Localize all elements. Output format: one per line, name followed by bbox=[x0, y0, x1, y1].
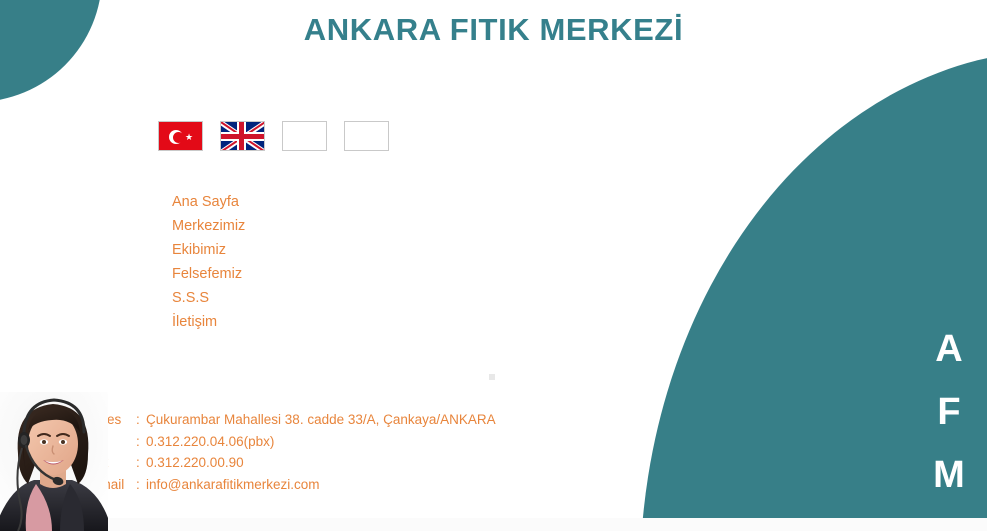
page-title: ANKARA FITIK MERKEZİ bbox=[0, 12, 987, 48]
nav-item-ana-sayfa[interactable]: Ana Sayfa bbox=[172, 190, 245, 214]
nav-item-ekibimiz[interactable]: Ekibimiz bbox=[172, 238, 245, 262]
contact-row-fax: Fax : 0.312.220.00.90 bbox=[86, 452, 496, 474]
contact-colon-address: : bbox=[136, 409, 146, 431]
nav-item-sss[interactable]: S.S.S bbox=[172, 286, 245, 310]
contact-value-email[interactable]: info@ankarafitikmerkezi.com bbox=[146, 474, 320, 496]
page-artifact-mark bbox=[489, 374, 495, 380]
english-flag-icon[interactable] bbox=[220, 121, 265, 151]
afm-letter-m: M bbox=[925, 444, 973, 507]
language-flag-bar: ★ bbox=[158, 121, 389, 151]
nav-item-felsefemiz[interactable]: Felsefemiz bbox=[172, 262, 245, 286]
contact-value-fax: 0.312.220.00.90 bbox=[146, 452, 244, 474]
nav-item-merkezimiz[interactable]: Merkezimiz bbox=[172, 214, 245, 238]
main-navigation: Ana Sayfa Merkezimiz Ekibimiz Felsefemiz… bbox=[172, 190, 245, 334]
call-center-operator-photo bbox=[0, 392, 108, 531]
german-flag-icon[interactable] bbox=[282, 121, 327, 151]
contact-row-email: E-mail : info@ankarafitikmerkezi.com bbox=[86, 474, 496, 496]
crescent-cut-shape bbox=[173, 132, 184, 143]
contact-row-phone: Tel : 0.312.220.04.06(pbx) bbox=[86, 431, 496, 453]
nav-item-iletisim[interactable]: İletişim bbox=[172, 310, 245, 334]
afm-logo-letters: A F M bbox=[925, 318, 973, 507]
contact-row-address: Adres : Çukurambar Mahallesi 38. cadde 3… bbox=[86, 409, 496, 431]
russian-flag-icon[interactable] bbox=[344, 121, 389, 151]
uk-cross-red-v bbox=[239, 122, 244, 151]
contact-colon-email: : bbox=[136, 474, 146, 496]
page-root: ANKARA FITIK MERKEZİ ★ bbox=[0, 0, 987, 531]
contact-value-address: Çukurambar Mahallesi 38. cadde 33/A, Çan… bbox=[146, 409, 496, 431]
turkish-flag-icon[interactable]: ★ bbox=[158, 121, 203, 151]
contact-colon-fax: : bbox=[136, 452, 146, 474]
afm-letter-a: A bbox=[925, 318, 973, 381]
contact-value-phone[interactable]: 0.312.220.04.06(pbx) bbox=[146, 431, 274, 453]
afm-letter-f: F bbox=[925, 381, 973, 444]
star-shape: ★ bbox=[185, 133, 193, 141]
contact-colon-phone: : bbox=[136, 431, 146, 453]
footer-band bbox=[0, 518, 987, 531]
contact-info: Adres : Çukurambar Mahallesi 38. cadde 3… bbox=[86, 409, 496, 495]
